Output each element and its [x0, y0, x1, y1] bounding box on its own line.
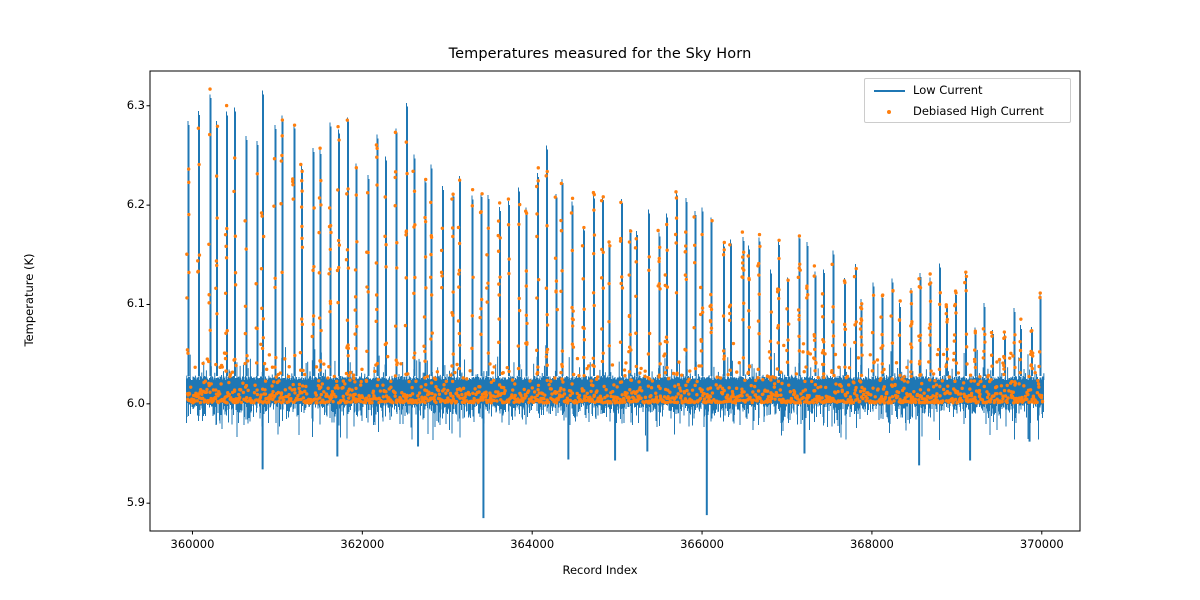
chart-legend[interactable]: Low Current Debiased High Current — [864, 78, 1071, 123]
legend-entry-debiased-high-current[interactable]: Debiased High Current — [865, 101, 1072, 122]
y-tick-label: 6.1 — [85, 296, 145, 310]
x-tick-label: 364000 — [487, 537, 577, 551]
y-tick-label: 6.0 — [85, 396, 145, 410]
legend-label-low-current: Low Current — [913, 83, 983, 97]
x-tick-label: 368000 — [827, 537, 917, 551]
legend-dot-swatch-icon — [887, 110, 891, 114]
y-tick-label: 6.2 — [85, 197, 145, 211]
matplotlib-figure: Temperatures measured for the Sky Horn T… — [0, 0, 1200, 600]
data-series-layer — [185, 87, 1044, 518]
x-tick-label: 362000 — [317, 537, 407, 551]
legend-line-swatch-icon — [874, 90, 905, 92]
legend-label-debiased-high-current: Debiased High Current — [913, 104, 1044, 118]
x-tick-label: 360000 — [147, 537, 237, 551]
y-tick-label: 5.9 — [85, 495, 145, 509]
x-tick-label: 366000 — [657, 537, 747, 551]
y-tick-label: 6.3 — [85, 98, 145, 112]
legend-entry-low-current[interactable]: Low Current — [865, 80, 1072, 101]
x-tick-label: 370000 — [997, 537, 1087, 551]
